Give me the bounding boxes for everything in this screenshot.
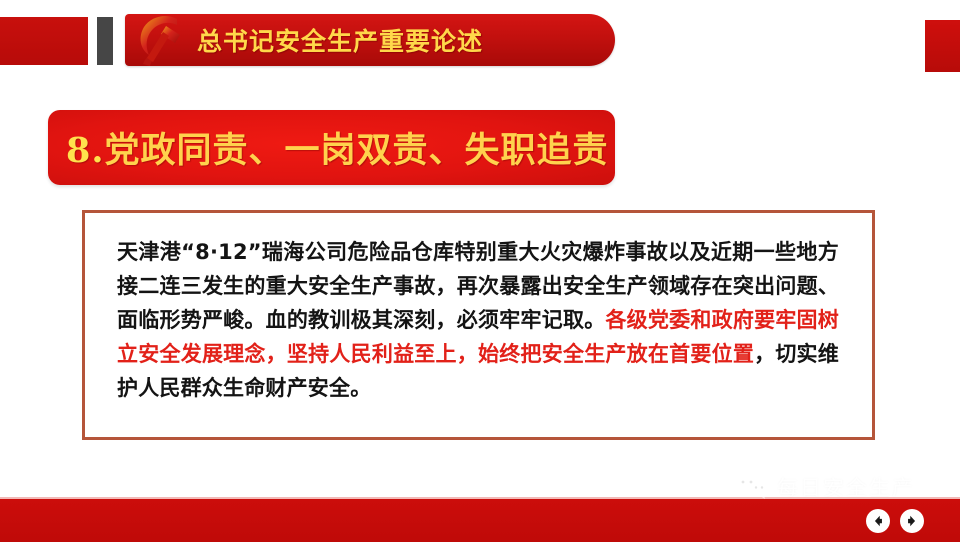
footer-red-band	[0, 497, 960, 542]
header-left-red-block	[0, 17, 88, 65]
header-banner-title: 总书记安全生产重要论述	[197, 22, 483, 58]
quote-content-box: 天津港“8·12”瑞海公司危险品仓库特别重大火灾爆炸事故以及近期一些地方接二连三…	[82, 210, 875, 440]
prev-slide-button[interactable]	[866, 509, 890, 533]
header-corner-red-block	[925, 20, 960, 72]
arrow-left-icon	[871, 514, 885, 528]
party-emblem-hammer-sickle-icon	[133, 11, 189, 69]
header-title-banner: 总书记安全生产重要论述	[125, 14, 615, 66]
section-title-text: 8.党政同责、一岗双责、失职追责	[48, 122, 609, 173]
header-bar: 总书记安全生产重要论述	[0, 0, 960, 80]
section-title-label: 党政同责、一岗双责、失职追责	[105, 130, 609, 171]
slide-navigation-controls	[866, 509, 924, 533]
quote-paragraph: 天津港“8·12”瑞海公司危险品仓库特别重大火灾爆炸事故以及近期一些地方接二连三…	[117, 235, 839, 405]
arrow-right-icon	[905, 514, 919, 528]
section-title-number: 8.	[66, 130, 105, 171]
section-title-box: 8.党政同责、一岗双责、失职追责	[48, 110, 615, 185]
next-slide-button[interactable]	[900, 509, 924, 533]
header-gray-accent-bar	[97, 17, 113, 65]
